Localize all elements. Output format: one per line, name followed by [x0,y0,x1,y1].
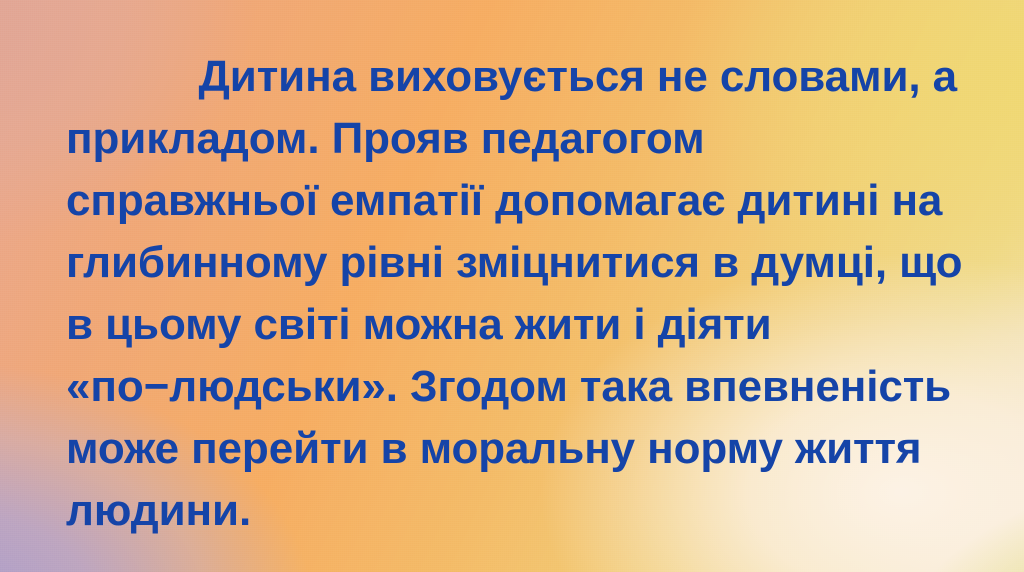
slide-canvas: Дитина виховується не словами, а приклад… [0,0,1024,572]
quote-text: Дитина виховується не словами, а приклад… [66,46,966,542]
